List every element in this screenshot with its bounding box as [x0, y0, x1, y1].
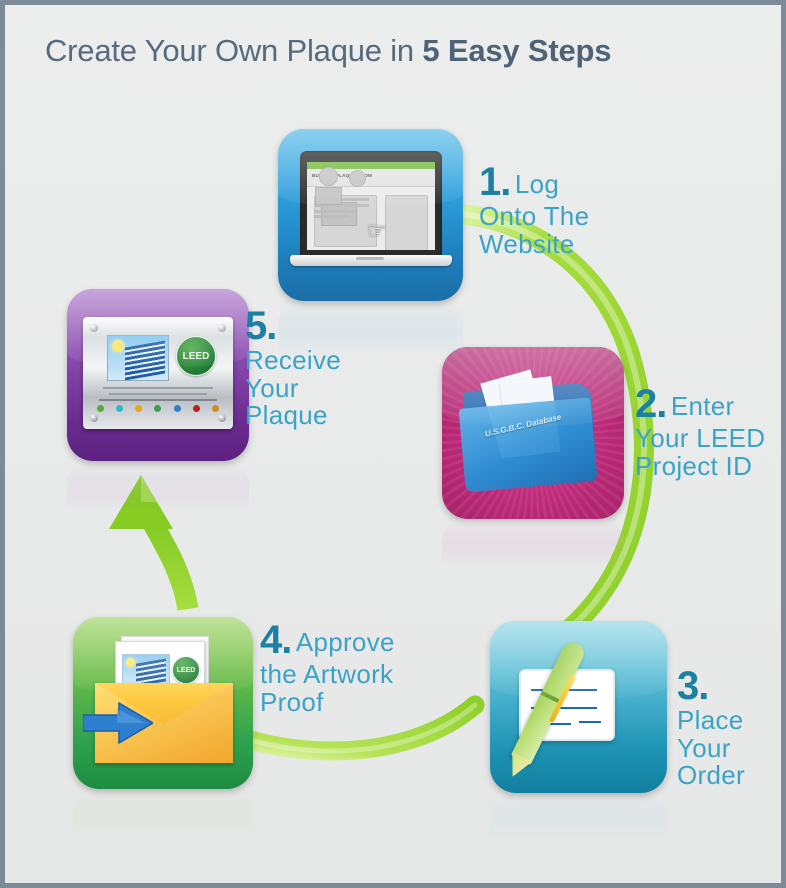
step5-text: 5. Receive Your Plaque	[245, 305, 365, 430]
plaque-illustration: LEED	[83, 317, 233, 429]
step1-icon-laptop-website[interactable]: BUILDINGPLAQUES.COM	[278, 129, 463, 301]
arrow-head-highlight	[141, 475, 157, 502]
step3-words: Place Your Order	[677, 705, 745, 790]
send-arrow-icon	[83, 701, 153, 745]
sun-icon	[112, 340, 124, 352]
plaque-dot	[193, 405, 200, 412]
page-title-plain: Create Your Own Plaque in	[45, 33, 422, 68]
laptop-base	[290, 255, 452, 266]
building-shape	[125, 340, 165, 380]
step4-number: 4.	[260, 618, 291, 662]
laptop-illustration: BUILDINGPLAQUES.COM	[300, 151, 442, 271]
step5-number: 5.	[245, 304, 276, 348]
site-card-right	[385, 195, 428, 250]
leed-seal-icon: LEED	[172, 656, 200, 684]
sun-icon	[126, 658, 135, 667]
step3-text: 3. Place Your Order	[677, 665, 777, 790]
step3-icon-place-order[interactable]	[490, 621, 667, 793]
step2-number: 2.	[635, 382, 666, 426]
laptop-lid: BUILDINGPLAQUES.COM	[300, 151, 442, 257]
step4-text: 4. Approve the Artwork Proof	[260, 619, 395, 716]
building-thumbnail	[122, 654, 170, 686]
screw-top-left-icon	[90, 324, 98, 332]
step5-icon-reflection	[67, 461, 249, 513]
laptop-screen: BUILDINGPLAQUES.COM	[307, 162, 435, 250]
step2-text: 2. Enter Your LEED Project ID	[635, 383, 786, 480]
step4-icon-reflection	[73, 789, 253, 835]
step5-words: Receive Your Plaque	[245, 345, 341, 430]
arrow-step4-to-step5-head	[109, 475, 173, 529]
plaque-dot	[116, 405, 123, 412]
plaque-dot	[174, 405, 181, 412]
plaque-color-dots	[97, 405, 219, 412]
plaque-building-image	[107, 335, 169, 381]
plaque-dot	[135, 405, 142, 412]
step3-number: 3.	[677, 664, 708, 708]
envelope-illustration: LEED	[91, 639, 237, 765]
hand-cursor-icon: ☞	[367, 220, 387, 242]
step2-icon-reflection	[442, 519, 624, 567]
step5-icon-receive-plaque[interactable]: LEED	[67, 289, 249, 461]
screw-top-right-icon	[218, 324, 226, 332]
step1-number: 1.	[479, 160, 510, 204]
step2-icon-folder-database[interactable]: U.S.G.B.C. Database	[442, 347, 624, 519]
leed-seal-icon: LEED	[176, 336, 216, 376]
folder-illustration: U.S.G.B.C. Database	[460, 373, 606, 493]
building-shape	[136, 658, 166, 686]
page-title-bold: 5 Easy Steps	[422, 33, 611, 68]
plaque-dot	[97, 405, 104, 412]
page-title: Create Your Own Plaque in 5 Easy Steps	[45, 33, 611, 69]
arrow-step4-to-step5-shaft	[147, 511, 188, 609]
plaque-dot	[212, 405, 219, 412]
screw-bottom-right-icon	[218, 414, 226, 422]
step4-icon-approve-artwork[interactable]: LEED	[73, 617, 253, 789]
plaque-dot	[154, 405, 161, 412]
infographic-canvas: Create Your Own Plaque in 5 Easy Steps	[0, 0, 786, 888]
step1-text: 1. Log Onto The Website	[479, 161, 609, 258]
step3-icon-reflection	[490, 793, 667, 839]
screw-bottom-left-icon	[90, 414, 98, 422]
